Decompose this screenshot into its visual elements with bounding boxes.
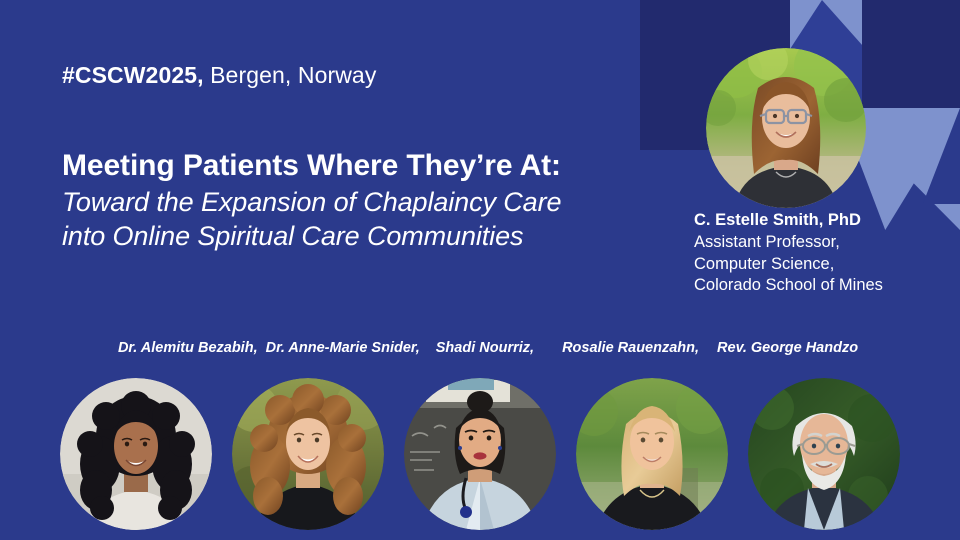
decorative-corner-navy bbox=[862, 0, 960, 108]
coauthor-name-5: Rev. George Handzo bbox=[717, 340, 858, 356]
presenter-credentials: C. Estelle Smith, PhD Assistant Professo… bbox=[694, 210, 952, 297]
coauthor-avatar-3 bbox=[404, 378, 556, 530]
coauthor-name-2: Dr. Anne-Marie Snider, bbox=[266, 340, 420, 356]
coauthor-names-row: Dr. Alemitu Bezabih, Dr. Anne-Marie Snid… bbox=[0, 340, 960, 356]
page-subtitle-line-2: into Online Spiritual Care Communities bbox=[62, 219, 672, 254]
page-subtitle: Toward the Expansion of Chaplaincy Care … bbox=[62, 185, 672, 254]
coauthor-avatar-4 bbox=[576, 378, 728, 530]
page-title: Meeting Patients Where They’re At: bbox=[62, 148, 672, 185]
coauthor-name-4: Rosalie Rauenzahn, bbox=[562, 340, 699, 356]
conference-hashtag: #CSCW2025, bbox=[62, 62, 204, 88]
presenter-affiliation-1: Assistant Professor, bbox=[694, 232, 952, 254]
presenter-name: C. Estelle Smith, PhD bbox=[694, 210, 952, 232]
coauthor-avatar-5 bbox=[748, 378, 900, 530]
title-block: Meeting Patients Where They’re At: Towar… bbox=[62, 148, 672, 254]
presenter-avatar bbox=[706, 48, 866, 208]
coauthor-avatar-1 bbox=[60, 378, 212, 530]
presenter-affiliation-3: Colorado School of Mines bbox=[694, 275, 952, 297]
conference-location: Bergen, Norway bbox=[204, 62, 377, 88]
title-slide: #CSCW2025, Bergen, Norway Meeting Patien… bbox=[0, 0, 960, 540]
coauthor-avatar-2 bbox=[232, 378, 384, 530]
conference-kicker: #CSCW2025, Bergen, Norway bbox=[62, 62, 376, 89]
coauthor-name-1: Dr. Alemitu Bezabih, bbox=[118, 340, 258, 356]
coauthor-name-3: Shadi Nourriz, bbox=[436, 340, 534, 356]
coauthor-avatar-row bbox=[0, 378, 960, 540]
page-subtitle-line-1: Toward the Expansion of Chaplaincy Care bbox=[62, 185, 672, 220]
presenter-affiliation-2: Computer Science, bbox=[694, 254, 952, 276]
